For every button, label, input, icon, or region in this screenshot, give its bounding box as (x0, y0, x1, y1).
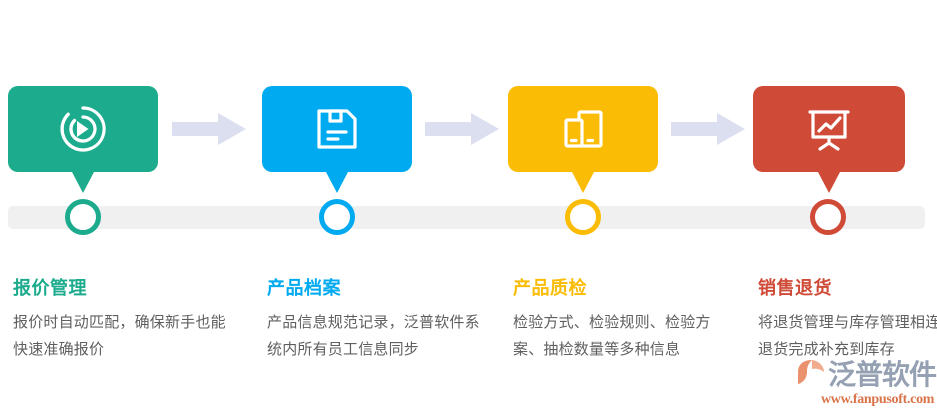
radar-target-icon (55, 101, 111, 157)
step-1-card[interactable] (8, 86, 158, 172)
step-2-node[interactable] (319, 199, 355, 235)
devices-icon (557, 103, 609, 155)
step-3-pointer (572, 172, 594, 193)
step-4-text: 销售退货 将退货管理与库存管理相连接，退货完成补充到库存 (758, 276, 937, 363)
step-2: 产品档案 产品信息规范记录，泛普软件系统内所有员工信息同步 (262, 0, 490, 416)
step-3-title: 产品质检 (513, 276, 738, 300)
step-3-node[interactable] (565, 199, 601, 235)
step-4-desc: 将退货管理与库存管理相连接，退货完成补充到库存 (758, 309, 937, 363)
step-2-desc: 产品信息规范记录，泛普软件系统内所有员工信息同步 (267, 309, 492, 363)
arrow-2-to-3 (425, 113, 499, 145)
step-3-card[interactable] (508, 86, 658, 172)
step-4-pointer (818, 172, 840, 193)
step-2-pointer (326, 172, 348, 193)
flow-diagram: 报价管理 报价时自动匹配，确保新手也能快速准确报价 产品档案 产品信息规范 (0, 0, 937, 416)
step-1-node[interactable] (65, 199, 101, 235)
step-1-title: 报价管理 (13, 276, 238, 300)
step-4-card[interactable] (753, 86, 905, 172)
arrow-1-to-2 (172, 113, 246, 145)
file-archive-icon (311, 103, 363, 155)
step-2-title: 产品档案 (267, 276, 492, 300)
step-1-pointer (72, 172, 94, 193)
step-2-text: 产品档案 产品信息规范记录，泛普软件系统内所有员工信息同步 (267, 276, 492, 363)
presentation-chart-icon (803, 103, 855, 155)
arrow-3-to-4 (671, 113, 745, 145)
step-2-card[interactable] (262, 86, 412, 172)
step-4: 销售退货 将退货管理与库存管理相连接，退货完成补充到库存 (753, 0, 937, 416)
step-1-text: 报价管理 报价时自动匹配，确保新手也能快速准确报价 (13, 276, 238, 363)
step-3-text: 产品质检 检验方式、检验规则、检验方案、抽检数量等多种信息 (513, 276, 738, 363)
step-3: 产品质检 检验方式、检验规则、检验方案、抽检数量等多种信息 (508, 0, 736, 416)
step-3-desc: 检验方式、检验规则、检验方案、抽检数量等多种信息 (513, 309, 738, 363)
step-1: 报价管理 报价时自动匹配，确保新手也能快速准确报价 (8, 0, 236, 416)
step-4-title: 销售退货 (758, 276, 937, 300)
step-4-node[interactable] (810, 199, 846, 235)
step-1-desc: 报价时自动匹配，确保新手也能快速准确报价 (13, 309, 238, 363)
